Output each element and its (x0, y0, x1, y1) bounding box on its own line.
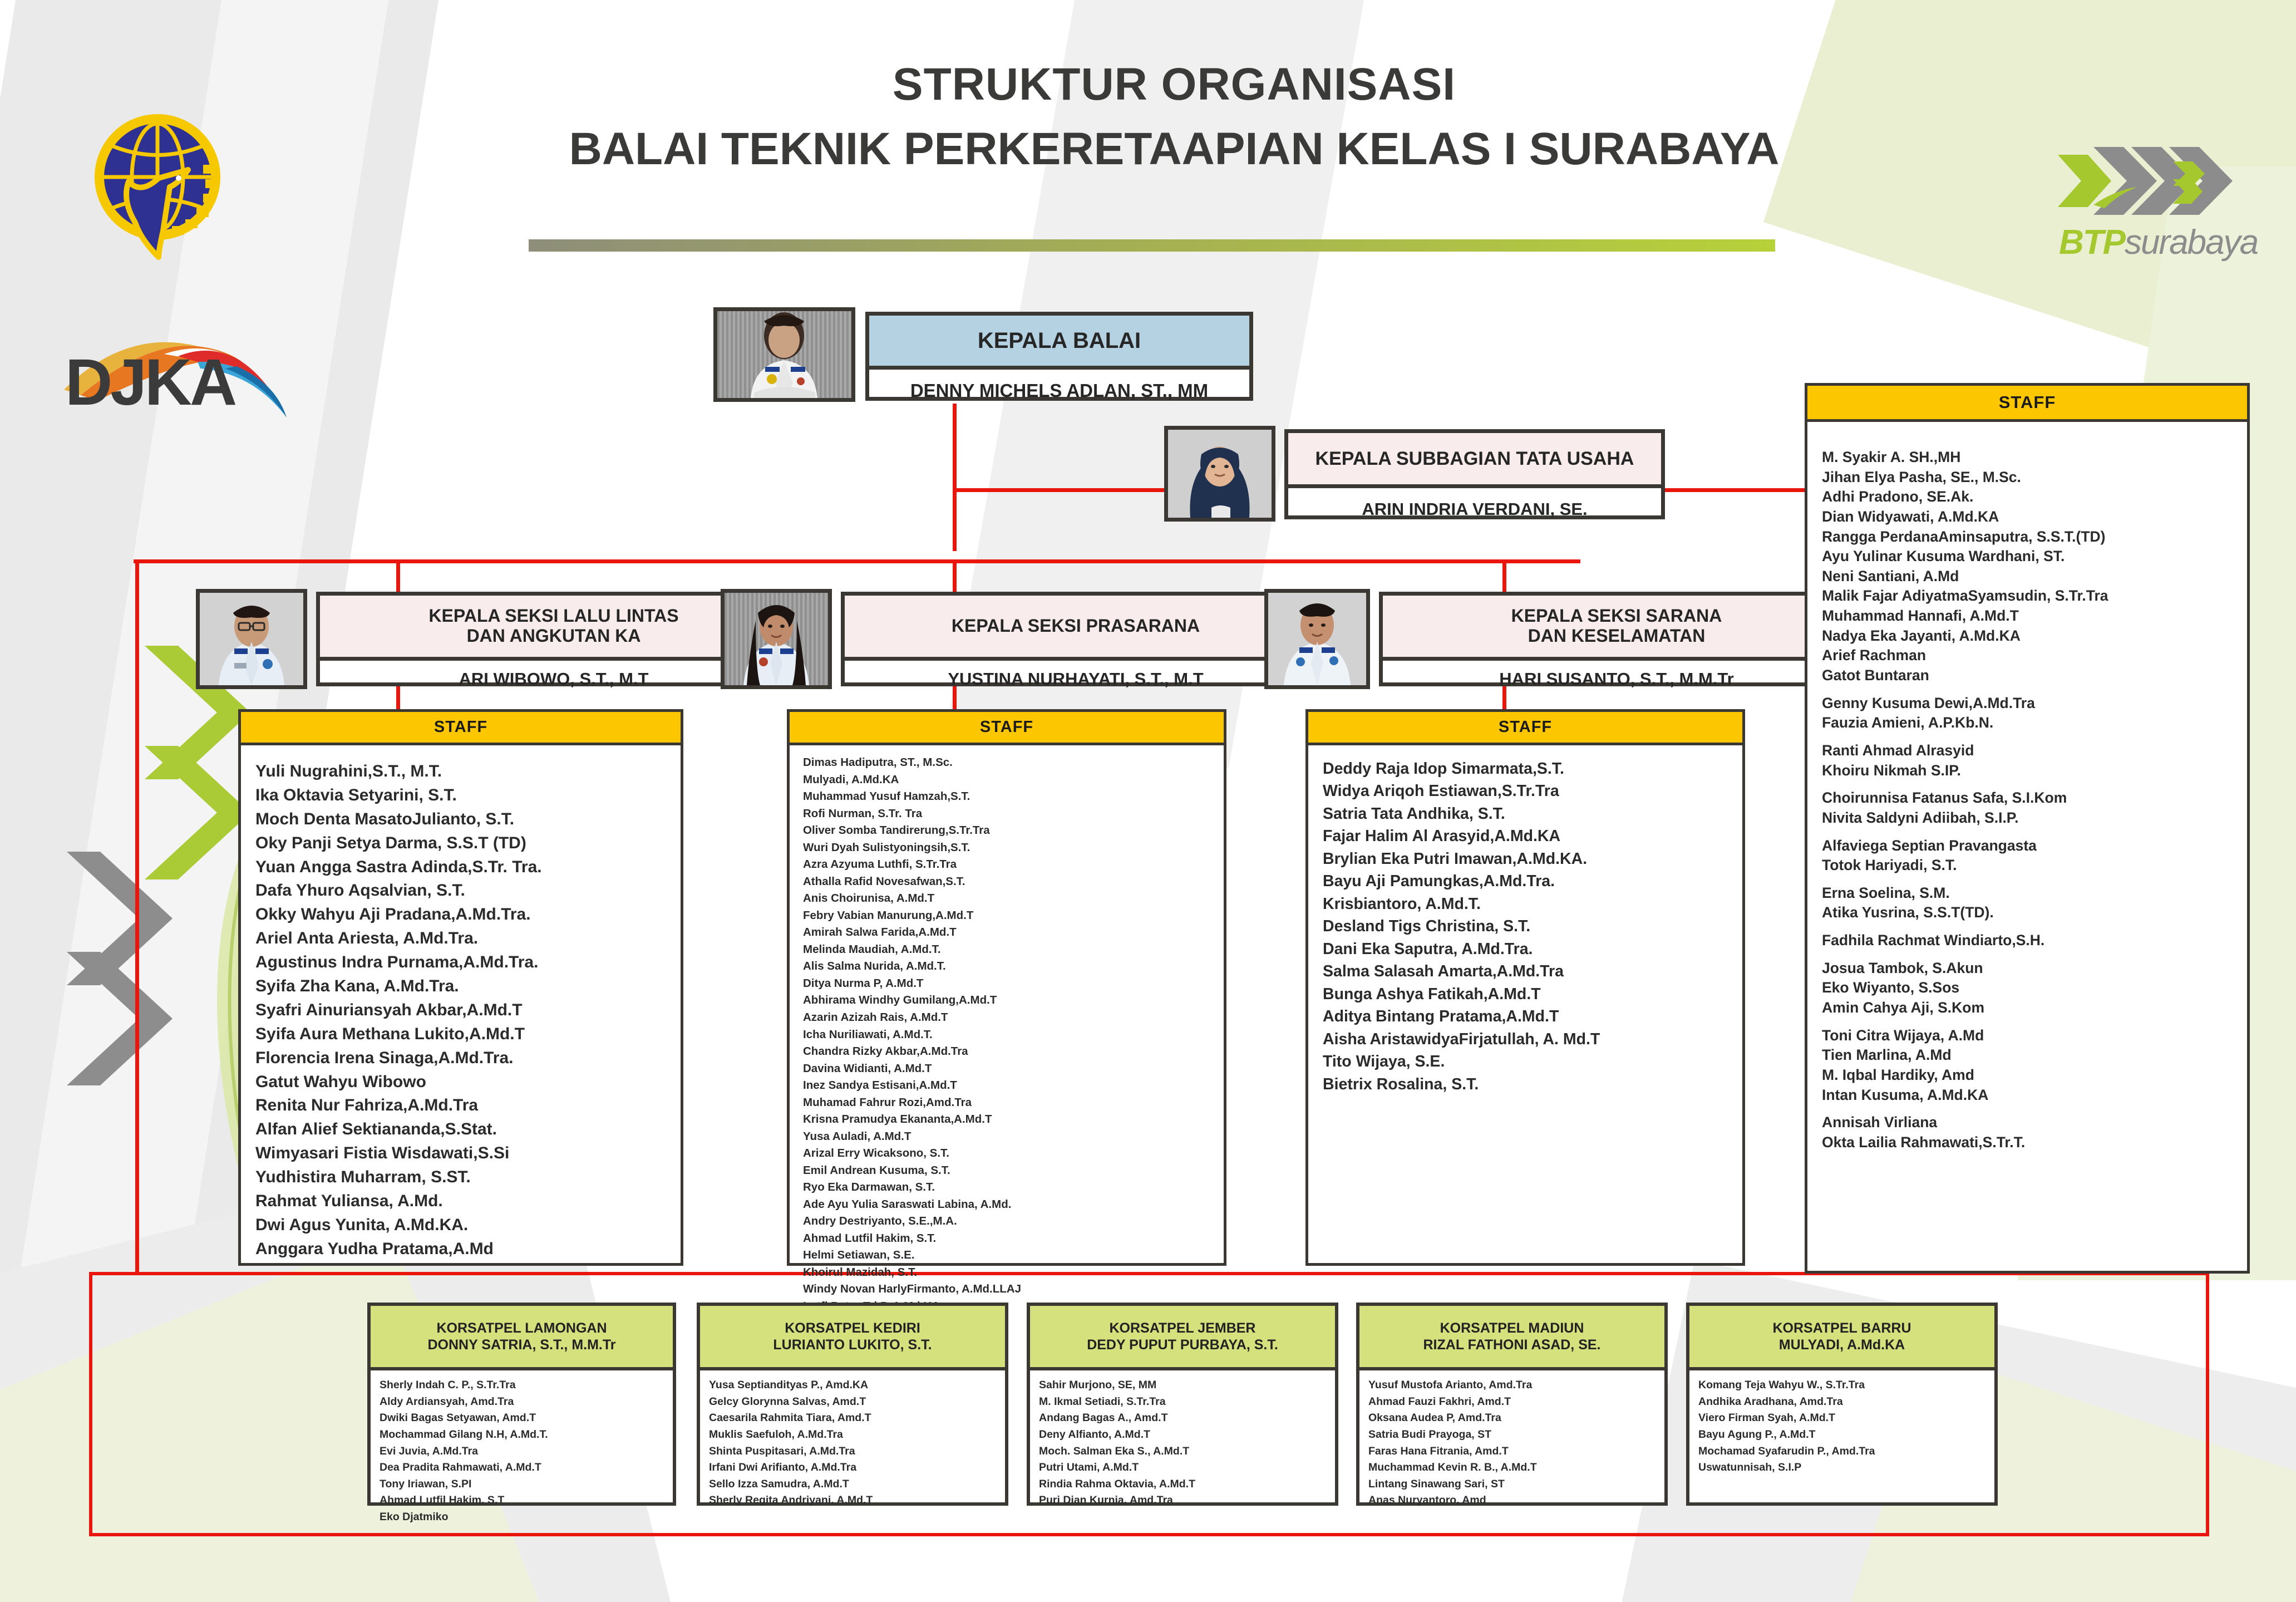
korsatpel-member: Sahir Murjono, SE, MM (1039, 1377, 1335, 1394)
korsatpel-head-name: MULYADI, A.Md.KA (1779, 1336, 1905, 1353)
connector-left-spine (135, 559, 139, 1272)
node-seksi-prasarana: KEPALA SEKSI PRASARANA YUSTINA NURHAYATI… (721, 589, 1310, 689)
connector-main-bus (134, 559, 1580, 563)
staff-name: Renita Nur Fahriza,A.Md.Tra (255, 1094, 681, 1118)
staff-name: Melinda Maudiah, A.Md.T. (803, 941, 1224, 959)
staff-name (1822, 733, 2247, 741)
korsatpel-member: Ahmad Fauzi Fakhri, Amd.T (1368, 1394, 1664, 1411)
staff-name: Rofi Nurman, S.Tr. Tra (803, 805, 1224, 823)
staff-name: Aditya Bintang Pratama,A.Md.T (1323, 1005, 1742, 1028)
staff-name: Nadya Eka Jayanti, A.Md.KA (1822, 626, 2247, 646)
korsatpel-member: Satria Budi Prayoga, ST (1368, 1427, 1664, 1443)
korsatpel-member: Putri Utami, A.Md.T (1039, 1460, 1335, 1476)
korsatpel-member: Moch. Salman Eka S., A.Md.T (1039, 1443, 1335, 1460)
kasubbag-tu-title: KEPALA SUBBAGIAN TATA USAHA (1288, 433, 1661, 488)
korsatpel-title: KORSATPEL MADIUN (1440, 1320, 1584, 1336)
staff-name: Dafa Yhuro Aqsalvian, S.T. (255, 879, 681, 903)
korsatpel-header: KORSATPEL JEMBERDEDY PUPUT PURBAYA, S.T. (1030, 1306, 1335, 1370)
staff-name: Okta Lailia Rahmawati,S.Tr.T. (1822, 1133, 2247, 1153)
staff-name: Dwi Agus Yunita, A.Md.KA. (255, 1213, 681, 1237)
korsatpel-member: Dea Pradita Rahmawati, A.Md.T (380, 1460, 673, 1476)
korsatpel-member-list: Sherly Indah C. P., S.Tr.TraAldy Ardians… (371, 1370, 673, 1531)
staff-name: Tien Marlina, A.Md (1822, 1045, 2247, 1065)
kepala-balai-photo (713, 307, 855, 402)
staff-name: Helmi Setiawan, S.E. (803, 1247, 1224, 1264)
korsatpel-member: Dwiki Bagas Setyawan, Amd.T (380, 1410, 673, 1427)
connector-tu-to-staff (1664, 488, 1825, 492)
korsatpel-member: Viero Firman Syah, A.Md.T (1698, 1410, 1994, 1427)
korsatpel-member: Mochamad Syafarudin P., Amd.Tra (1698, 1443, 1994, 1460)
staff-tu-header: STAFF (1807, 386, 2247, 422)
korsatpel-header: KORSATPEL MADIUNRIZAL FATHONI ASAD, SE. (1359, 1306, 1664, 1370)
korsatpel-member: Sherly Indah C. P., S.Tr.Tra (380, 1377, 673, 1394)
staff-name: Florencia Irena Sinaga,A.Md.Tra. (255, 1046, 681, 1070)
staff-name: M. Syakir A. SH.,MH (1822, 448, 2247, 468)
korsatpel-member: Sherly Regita Andriyani, A.Md.T (709, 1492, 1005, 1509)
staff-name: Fauzia Amieni, A.P.Kb.N. (1822, 713, 2247, 733)
korsatpel-member: M. Ikmal Setiadi, S.Tr.Tra (1039, 1394, 1335, 1411)
staff-name: M. Iqbal Hardiky, Amd (1822, 1065, 2247, 1085)
korsatpel-member: Yusuf Mustofa Arianto, Amd.Tra (1368, 1377, 1664, 1394)
staff-name: Oliver Somba Tandirerung,S.Tr.Tra (803, 822, 1224, 839)
staff-name: Muhammad Yusuf Hamzah,S.T. (803, 788, 1224, 805)
staff-name: Andry Destriyanto, S.E.,M.A. (803, 1213, 1224, 1230)
korsatpel-member: Muchammad Kevin R. B., A.Md.T (1368, 1460, 1664, 1476)
seksi-lalin-title-line1: KEPALA SEKSI LALU LINTAS (428, 606, 678, 626)
staff-name: Ika Oktavia Setyarini, S.T. (255, 784, 681, 808)
staff-name: Intan Kusuma, A.Md.KA (1822, 1085, 2247, 1105)
node-seksi-sarana: KEPALA SEKSI SARANA DAN KESELAMATAN HARI… (1264, 589, 1854, 689)
staff-name: Erna Soelina, S.M. (1822, 883, 2247, 903)
staff-prasarana-list: Dimas Hadiputra, ST., M.Sc.Mulyadi, A.Md… (790, 745, 1224, 1355)
korsatpel-member-list: Yusuf Mustofa Arianto, Amd.TraAhmad Fauz… (1359, 1370, 1664, 1515)
staff-name: Yudhistira Muharram, S.ST. (255, 1166, 681, 1190)
korsatpel-member: Irfani Dwi Arifianto, A.Md.Tra (709, 1460, 1005, 1476)
korsatpel-box[interactable]: KORSATPEL LAMONGANDONNY SATRIA, S.T., M.… (367, 1303, 676, 1506)
staff-panel-tata-usaha: STAFF M. Syakir A. SH.,MHJihan Elya Pash… (1805, 383, 2250, 1274)
staff-name: Ranti Ahmad Alrasyid (1822, 741, 2247, 761)
korsatpel-member: Shinta Puspitasari, A.Md.Tra (709, 1443, 1005, 1460)
djka-wordmark: DJKA (65, 350, 235, 415)
seksi-prasarana-title: KEPALA SEKSI PRASARANA (845, 596, 1307, 661)
seksi-lalin-box: KEPALA SEKSI LALU LINTAS DAN ANGKUTAN KA… (316, 592, 791, 686)
staff-name: Alfan Alief Sektiananda,S.Stat. (255, 1118, 681, 1142)
btp-wordmark: BTPsurabaya (2059, 223, 2258, 262)
staff-name: Amin Cahya Aji, S.Kom (1822, 998, 2247, 1018)
staff-name: Arizal Erry Wicaksono, S.T. (803, 1145, 1224, 1162)
staff-name: Okky Wahyu Aji Pradana,A.Md.Tra. (255, 903, 681, 927)
title-line-2: BALAI TEKNIK PERKERETAAPIAN KELAS I SURA… (356, 123, 1992, 175)
staff-name: Yuan Angga Sastra Adinda,S.Tr. Tra. (255, 856, 681, 879)
staff-name: Adhi Pradono, SE.Ak. (1822, 487, 2247, 507)
korsatpel-box[interactable]: KORSATPEL KEDIRILURIANTO LUKITO, S.T.Yus… (697, 1303, 1008, 1506)
staff-name: Ahmad Lutfil Hakim, S.T. (803, 1230, 1224, 1247)
staff-panel-sarana: STAFF Deddy Raja Idop Simarmata,S.T.Widy… (1305, 709, 1745, 1266)
staff-name: Jihan Elya Pasha, SE., M.Sc. (1822, 468, 2247, 488)
staff-name: Yuli Nugrahini,S.T., M.T. (255, 760, 681, 784)
kemenhub-logo (74, 111, 252, 262)
staff-name: Dimas Hadiputra, ST., M.Sc. (803, 754, 1224, 771)
korsatpel-head-name: LURIANTO LUKITO, S.T. (773, 1336, 932, 1353)
korsatpel-member-list: Sahir Murjono, SE, MMM. Ikmal Setiadi, S… (1030, 1370, 1335, 1515)
kepala-balai-box: KEPALA BALAI DENNY MICHELS ADLAN, ST., M… (865, 312, 1253, 401)
staff-name: Widya Ariqoh Estiawan,S.Tr.Tra (1323, 780, 1742, 802)
staff-name: Malik Fajar AdiyatmaSyamsudin, S.Tr.Tra (1822, 586, 2247, 606)
staff-name: Wimyasari Fistia Wisdawati,S.Si (255, 1142, 681, 1166)
staff-name: Syifa Aura Methana Lukito,A.Md.T (255, 1023, 681, 1046)
seksi-sarana-name: HARI SUSANTO, S.T., M.M.Tr (1383, 661, 1850, 697)
korsatpel-member: Rindia Rahma Oktavia, A.Md.T (1039, 1476, 1335, 1493)
seksi-sarana-photo (1264, 589, 1370, 689)
staff-name: Muhammad Hannafi, A.Md.T (1822, 606, 2247, 626)
korsatpel-head-name: DONNY SATRIA, S.T., M.M.Tr (428, 1336, 616, 1353)
staff-name: Bayu Aji Pamungkas,A.Md.Tra. (1323, 870, 1742, 892)
staff-name: Ditya Nurma P, A.Md.T (803, 975, 1224, 992)
staff-name: Emil Andrean Kusuma, S.T. (803, 1162, 1224, 1180)
staff-name: Chandra Rizky Akbar,A.Md.Tra (803, 1043, 1224, 1060)
staff-name: Nivita Saldyni Adiibah, S.I.P. (1822, 808, 2247, 828)
seksi-lalin-title: KEPALA SEKSI LALU LINTAS DAN ANGKUTAN KA (320, 596, 787, 661)
staff-name: Alis Salma Nurida, A.Md.T. (803, 958, 1224, 975)
btp-surabaya-logo: BTPsurabaya (2053, 139, 2259, 267)
seksi-lalin-title-line2: DAN ANGKUTAN KA (467, 626, 641, 646)
staff-name: Agustinus Indra Purnama,A.Md.Tra. (255, 951, 681, 975)
staff-name (1822, 686, 2247, 694)
korsatpel-member: Aldy Ardiansyah, Amd.Tra (380, 1394, 673, 1411)
korsatpel-header: KORSATPEL KEDIRILURIANTO LUKITO, S.T. (700, 1306, 1005, 1370)
staff-name: Neni Santiani, A.Md (1822, 567, 2247, 587)
korsatpel-header: KORSATPEL BARRUMULYADI, A.Md.KA (1689, 1306, 1994, 1370)
staff-name (1822, 1105, 2247, 1113)
staff-sarana-list: Deddy Raja Idop Simarmata,S.T.Widya Ariq… (1308, 745, 1742, 1101)
korsatpel-member: Komang Teja Wahyu W., S.Tr.Tra (1698, 1377, 1994, 1394)
korsatpel-title: KORSATPEL LAMONGAN (436, 1320, 607, 1336)
staff-name: Wuri Dyah Sulistyoningsih,S.T. (803, 839, 1224, 857)
staff-name (1822, 876, 2247, 883)
staff-name: Josua Tambok, S.Akun (1822, 959, 2247, 979)
staff-name: Azarin Azizah Rais, A.Md.T (803, 1009, 1224, 1026)
korsatpel-member: Lintang Sinawang Sari, ST (1368, 1476, 1664, 1493)
page-title: STRUKTUR ORGANISASI BALAI TEKNIK PERKERE… (356, 58, 1992, 175)
staff-name: Annisah Virliana (1822, 1113, 2247, 1133)
node-seksi-lalu-lintas: KEPALA SEKSI LALU LINTAS DAN ANGKUTAN KA… (196, 589, 791, 689)
staff-name: Deddy Raja Idop Simarmata,S.T. (1323, 758, 1742, 780)
staff-name: Athalla Rafid Novesafwan,S.T. (803, 873, 1224, 891)
staff-name: Ade Ayu Yulia Saraswati Labina, A.Md. (803, 1196, 1224, 1213)
staff-name: Yusa Auladi, A.Md.T (803, 1128, 1224, 1146)
staff-name: Anis Choirunisa, A.Md.T (803, 890, 1224, 907)
staff-name: Inez Sandya Estisani,A.Md.T (803, 1077, 1224, 1094)
seksi-sarana-title-line1: KEPALA SEKSI SARANA (1511, 606, 1722, 626)
staff-name: Bietrix Rosalina, S.T. (1323, 1073, 1742, 1095)
staff-sarana-header: STAFF (1308, 712, 1742, 745)
staff-name (1822, 828, 2247, 836)
node-kepala-balai: KEPALA BALAI DENNY MICHELS ADLAN, ST., M… (713, 307, 1253, 402)
staff-name: Amirah Salwa Farida,A.Md.T (803, 924, 1224, 941)
staff-name: Windy Novan HarlyFirmanto, A.Md.LLAJ (803, 1281, 1224, 1298)
btp-wordmark-btp: BTP (2059, 223, 2125, 262)
korsatpel-member: Eko Djatmiko (380, 1509, 673, 1526)
korsatpel-member: Bayu Agung P., A.Md.T (1698, 1427, 1994, 1443)
korsatpel-member-list: Yusa Septiandityas P., Amd.KAGelcy Glory… (700, 1370, 1005, 1515)
staff-name: Totok Hariyadi, S.T. (1822, 856, 2247, 876)
korsatpel-box[interactable]: KORSATPEL JEMBERDEDY PUPUT PURBAYA, S.T.… (1027, 1303, 1338, 1506)
korsatpel-member: Andang Bagas A., Amd.T (1039, 1410, 1335, 1427)
korsatpel-header: KORSATPEL LAMONGANDONNY SATRIA, S.T., M.… (371, 1306, 673, 1370)
seksi-lalin-name: ARI WIBOWO, S.T., M.T (320, 661, 787, 697)
korsatpel-member: Andhika Aradhana, Amd.Tra (1698, 1394, 1994, 1411)
staff-name: Rahmat Yuliansa, A.Md. (255, 1190, 681, 1213)
staff-name: Febry Vabian Manurung,A.Md.T (803, 907, 1224, 925)
staff-name: Muhamad Fahrur Rozi,Amd.Tra (803, 1094, 1224, 1112)
korsatpel-member: Oksana Audea P, Amd.Tra (1368, 1410, 1664, 1427)
staff-name: Krisbiantoro, A.Md.T. (1323, 893, 1742, 915)
staff-name: Atika Yusrina, S.S.T(TD). (1822, 903, 2247, 923)
staff-name: Gatot Buntaran (1822, 666, 2247, 686)
seksi-sarana-title-line2: DAN KESELAMATAN (1528, 626, 1706, 646)
staff-name: Oky Panji Setya Darma, S.S.T (TD) (255, 832, 681, 856)
staff-name: Mulyadi, A.Md.KA (803, 771, 1224, 789)
staff-name: Dian Widyawati, A.Md.KA (1822, 507, 2247, 527)
staff-name: Rangga PerdanaAminsaputra, S.S.T.(TD) (1822, 527, 2247, 547)
staff-name: Icha Nuriliawati, A.Md.T. (803, 1026, 1224, 1044)
staff-name (1822, 780, 2247, 788)
staff-name (1822, 1018, 2247, 1026)
staff-name: Desland Tigs Christina, S.T. (1323, 915, 1742, 937)
seksi-prasarana-photo (721, 589, 832, 689)
korsatpel-member: Gelcy Glorynna Salvas, Amd.T (709, 1394, 1005, 1411)
staff-name: Syifa Zha Kana, A.Md.Tra. (255, 975, 681, 999)
title-line-1: STRUKTUR ORGANISASI (356, 58, 1992, 111)
korsatpel-member: Yusa Septiandityas P., Amd.KA (709, 1377, 1005, 1394)
staff-panel-prasarana: STAFF Dimas Hadiputra, ST., M.Sc.Mulyadi… (787, 709, 1226, 1266)
korsatpel-member: Ahmad Lutfil Hakim, S.T (380, 1492, 673, 1509)
kepala-balai-title: KEPALA BALAI (869, 316, 1249, 370)
korsatpel-member: Puri Dian Kurnia, Amd.Tra (1039, 1492, 1335, 1509)
korsatpel-member: Caesarila Rahmita Tiara, Amd.T (709, 1410, 1005, 1427)
korsatpel-member: Sello Izza Samudra, A.Md.T (709, 1476, 1005, 1493)
djka-logo: DJKA (58, 317, 292, 423)
korsatpel-title: KORSATPEL BARRU (1772, 1320, 1911, 1336)
korsatpel-member: Mochammad Gilang N.H, A.Md.T. (380, 1427, 673, 1443)
staff-name: Salma Salasah Amarta,A.Md.Tra (1323, 960, 1742, 982)
staff-name: Davina Widianti, A.Md.T (803, 1060, 1224, 1078)
staff-name: Khoirul Mazidah, S.T. (803, 1264, 1224, 1281)
staff-lalin-header: STAFF (241, 712, 681, 745)
staff-name: Tito Wijaya, S.E. (1323, 1050, 1742, 1073)
connector-balai-vertical (953, 404, 957, 551)
staff-name: Fajar Halim Al Arasyid,A.Md.KA (1323, 825, 1742, 847)
staff-name: Alfaviega Septian Pravangasta (1822, 836, 2247, 856)
seksi-prasarana-name: YUSTINA NURHAYATI, S.T., M.T (845, 661, 1307, 697)
staff-name: Moch Denta MasatoJulianto, S.T. (255, 808, 681, 832)
staff-name: Fadhila Rachmat Windiarto,S.H. (1822, 931, 2247, 951)
seksi-prasarana-box: KEPALA SEKSI PRASARANA YUSTINA NURHAYATI… (841, 592, 1310, 686)
staff-name: Ayu Yulinar Kusuma Wardhani, ST. (1822, 547, 2247, 567)
staff-prasarana-header: STAFF (790, 712, 1224, 745)
kasubbag-tu-photo (1164, 426, 1275, 522)
kepala-balai-name: DENNY MICHELS ADLAN, ST., MM (869, 370, 1249, 412)
staff-name: Arief Rachman (1822, 646, 2247, 666)
korsatpel-box[interactable]: KORSATPEL BARRUMULYADI, A.Md.KAKomang Te… (1686, 1303, 1998, 1506)
korsatpel-member: Deny Alfianto, A.Md.T (1039, 1427, 1335, 1443)
staff-name: Abhirama Windhy Gumilang,A.Md.T (803, 992, 1224, 1009)
node-kasubbag-tata-usaha: KEPALA SUBBAGIAN TATA USAHA ARIN INDRIA … (1164, 426, 1665, 522)
seksi-lalin-photo (196, 589, 307, 689)
korsatpel-head-name: RIZAL FATHONI ASAD, SE. (1423, 1336, 1601, 1353)
staff-name: Aisha AristawidyaFirjatullah, A. Md.T (1323, 1028, 1742, 1050)
btp-wordmark-surabaya: surabaya (2125, 223, 2258, 262)
staff-name: Ryo Eka Darmawan, S.T. (803, 1179, 1224, 1196)
staff-name: Satria Tata Andhika, S.T. (1323, 803, 1742, 825)
staff-name: Anggara Yudha Pratama,A.Md (255, 1237, 681, 1261)
korsatpel-member: Evi Juvia, A.Md.Tra (380, 1443, 673, 1460)
staff-name: Toni Citra Wijaya, A.Md (1822, 1026, 2247, 1046)
staff-panel-lalu-lintas: STAFF Yuli Nugrahini,S.T., M.T.Ika Oktav… (238, 709, 683, 1266)
staff-name: Choirunnisa Fatanus Safa, S.I.Kom (1822, 788, 2247, 808)
korsatpel-box[interactable]: KORSATPEL MADIUNRIZAL FATHONI ASAD, SE.Y… (1356, 1303, 1668, 1506)
korsatpel-member: Faras Hana Fitrania, Amd.T (1368, 1443, 1664, 1460)
korsatpel-member: Anas Nuryantoro, Amd (1368, 1492, 1664, 1509)
staff-tu-list: M. Syakir A. SH.,MHJihan Elya Pasha, SE.… (1807, 422, 2247, 1158)
korsatpel-member: Uswatunnisah, S.I.P (1698, 1460, 1994, 1476)
staff-name: Bunga Ashya Fatikah,A.Md.T (1323, 983, 1742, 1005)
kasubbag-tu-name: ARIN INDRIA VERDANI, SE. (1288, 488, 1661, 530)
staff-name (1822, 951, 2247, 959)
seksi-sarana-box: KEPALA SEKSI SARANA DAN KESELAMATAN HARI… (1379, 592, 1854, 686)
korsatpel-title: KORSATPEL KEDIRI (785, 1320, 920, 1336)
korsatpel-member-list: Komang Teja Wahyu W., S.Tr.TraAndhika Ar… (1689, 1370, 1994, 1482)
korsatpel-head-name: DEDY PUPUT PURBAYA, S.T. (1087, 1336, 1278, 1353)
staff-name: Dani Eka Saputra, A.Md.Tra. (1323, 938, 1742, 960)
korsatpel-title: KORSATPEL JEMBER (1109, 1320, 1255, 1336)
kasubbag-tu-box: KEPALA SUBBAGIAN TATA USAHA ARIN INDRIA … (1284, 429, 1665, 519)
staff-lalin-list: Yuli Nugrahini,S.T., M.T.Ika Oktavia Set… (241, 745, 681, 1267)
staff-name: Gatut Wahyu Wibowo (255, 1070, 681, 1094)
staff-name: Eko Wiyanto, S.Sos (1822, 978, 2247, 998)
staff-name: Azra Azyuma Luthfi, S.Tr.Tra (803, 856, 1224, 873)
connector-balai-to-tu (953, 488, 1164, 492)
staff-name: Syafri Ainuriansyah Akbar,A.Md.T (255, 999, 681, 1023)
staff-name: Ariel Anta Ariesta, A.Md.Tra. (255, 927, 681, 951)
staff-name: Khoiru Nikmah S.IP. (1822, 761, 2247, 781)
title-divider-bar (529, 239, 1775, 252)
staff-name: Krisna Pramudya Ekananta,A.Md.T (803, 1111, 1224, 1128)
korsatpel-member: Tony Iriawan, S.PI (380, 1476, 673, 1493)
staff-name: Genny Kusuma Dewi,A.Md.Tra (1822, 694, 2247, 714)
korsatpel-member: Muklis Saefuloh, A.Md.Tra (709, 1427, 1005, 1443)
staff-name (1822, 923, 2247, 931)
seksi-sarana-title: KEPALA SEKSI SARANA DAN KESELAMATAN (1383, 596, 1850, 661)
staff-name: Brylian Eka Putri Imawan,A.Md.KA. (1323, 848, 1742, 870)
